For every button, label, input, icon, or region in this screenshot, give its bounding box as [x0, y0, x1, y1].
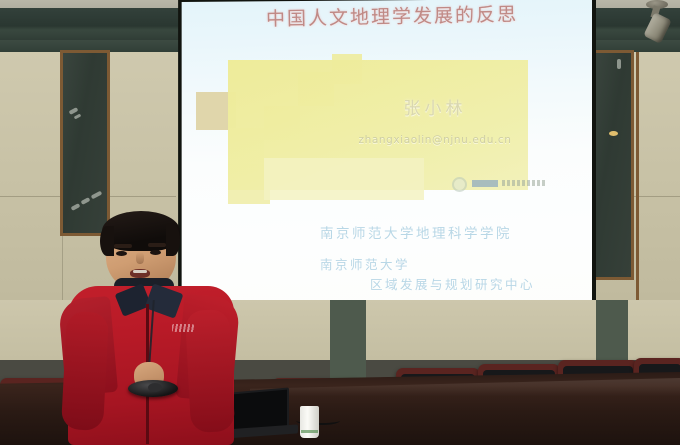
lecture-room-photo: 中国人文地理学发展的反思 张小林 zhangxiaolin@njnu.edu.c…: [0, 0, 680, 445]
right-glass-door[interactable]: [592, 50, 634, 280]
presenter-hair-side: [100, 226, 114, 256]
slide-affiliation-2: 南京师范大学: [320, 254, 410, 273]
presenter-eye: [116, 251, 127, 256]
jacket-brand-logo-icon: [172, 324, 194, 332]
slide-author-email: zhangxiaolin@njnu.edu.cn: [320, 134, 550, 146]
slide-decoration-square: [264, 158, 424, 200]
presenter-hair-side: [166, 224, 180, 256]
presenter-eye: [150, 250, 161, 255]
slide-affiliation-1: 南京师范大学地理科学学院: [320, 222, 512, 242]
presenter-nose: [136, 252, 144, 264]
left-glass-door[interactable]: [60, 50, 110, 236]
slide-author: 张小林: [330, 94, 540, 119]
projection-screen: 中国人文地理学发展的反思 张小林 zhangxiaolin@njnu.edu.c…: [180, 0, 592, 332]
presenter-arm: [61, 311, 109, 431]
slide-affiliation-3: 区域发展与规划研究中心: [370, 274, 535, 293]
paper-cup[interactable]: [300, 406, 319, 438]
presenter-mouth: [130, 269, 150, 278]
slide-title: 中国人文地理学发展的反思: [214, 0, 570, 32]
presenter: [62, 212, 237, 445]
presenter-eyebrow: [148, 243, 166, 247]
presenter-eyebrow: [114, 244, 132, 248]
microphone-center: [148, 383, 162, 392]
university-logo-icon: [452, 176, 548, 193]
